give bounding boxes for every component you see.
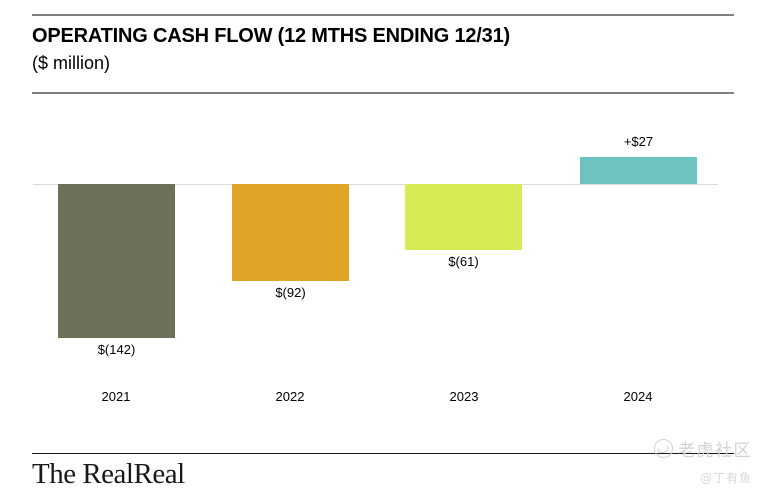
category-label-2023: 2023: [404, 389, 524, 404]
watermark-brand-text: 老虎社区: [678, 436, 752, 461]
watermark: 老虎社区 @丁有鱼: [620, 436, 752, 486]
watermark-handle: @丁有鱼: [620, 469, 752, 486]
watermark-brand-row: 老虎社区: [620, 436, 752, 461]
tiger-circle-icon: [654, 439, 673, 458]
category-label-2021: 2021: [56, 389, 176, 404]
company-logo: The RealReal: [32, 458, 185, 491]
bar-label-2023: $(61): [405, 254, 522, 269]
bar-label-2024: +$27: [580, 134, 697, 149]
bar-2024: [580, 157, 697, 184]
bar-2022: [232, 184, 349, 281]
bar-2021: [58, 184, 175, 338]
footer-rule: [32, 453, 734, 454]
category-label-2022: 2022: [230, 389, 350, 404]
bar-chart: $(142) $(92) $(61) +$27 2021 2022 2023 2…: [0, 0, 766, 420]
bar-2023: [405, 184, 522, 250]
slide-canvas: OPERATING CASH FLOW (12 MTHS ENDING 12/3…: [0, 0, 766, 499]
category-label-2024: 2024: [578, 389, 698, 404]
bar-label-2022: $(92): [232, 285, 349, 300]
bar-label-2021: $(142): [58, 342, 175, 357]
